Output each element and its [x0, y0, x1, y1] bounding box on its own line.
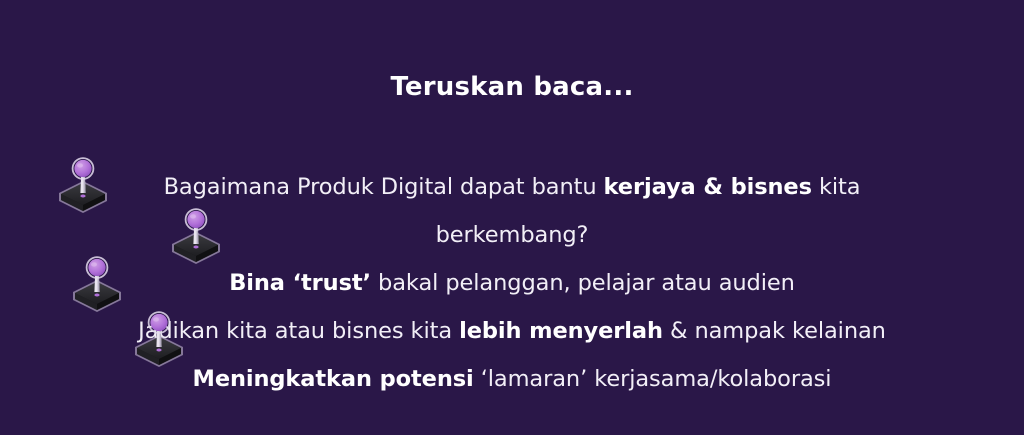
body-text-line: Bagaimana Produk Digital dapat bantu ker…	[0, 163, 1024, 211]
joystick-icon	[66, 254, 128, 316]
emphasis-text: kerjaya & bisnes	[604, 174, 812, 200]
plain-text: & nampak kelainan	[663, 318, 886, 344]
plain-text: bakal pelanggan, pelajar atau audien	[371, 270, 795, 296]
slide-canvas: Teruskan baca... Bagaimana Produk Digita…	[0, 0, 1024, 435]
joystick-icon	[52, 155, 114, 217]
plain-text: ‘lamaran’ kerjasama/kolaborasi	[474, 366, 832, 392]
emphasis-text: lebih menyerlah	[459, 318, 663, 344]
joystick-icon	[165, 206, 227, 268]
emphasis-text: Meningkatkan potensi	[193, 366, 474, 392]
joystick-icon	[128, 309, 190, 371]
emphasis-text: Bina ‘trust’	[229, 270, 371, 296]
page-title: Teruskan baca...	[0, 72, 1024, 102]
plain-text: berkembang?	[436, 222, 589, 248]
plain-text: kita	[812, 174, 861, 200]
plain-text: Bagaimana Produk Digital dapat bantu	[164, 174, 604, 200]
body-text-line: berkembang?	[0, 211, 1024, 259]
body-text-line: Bina ‘trust’ bakal pelanggan, pelajar at…	[0, 259, 1024, 307]
